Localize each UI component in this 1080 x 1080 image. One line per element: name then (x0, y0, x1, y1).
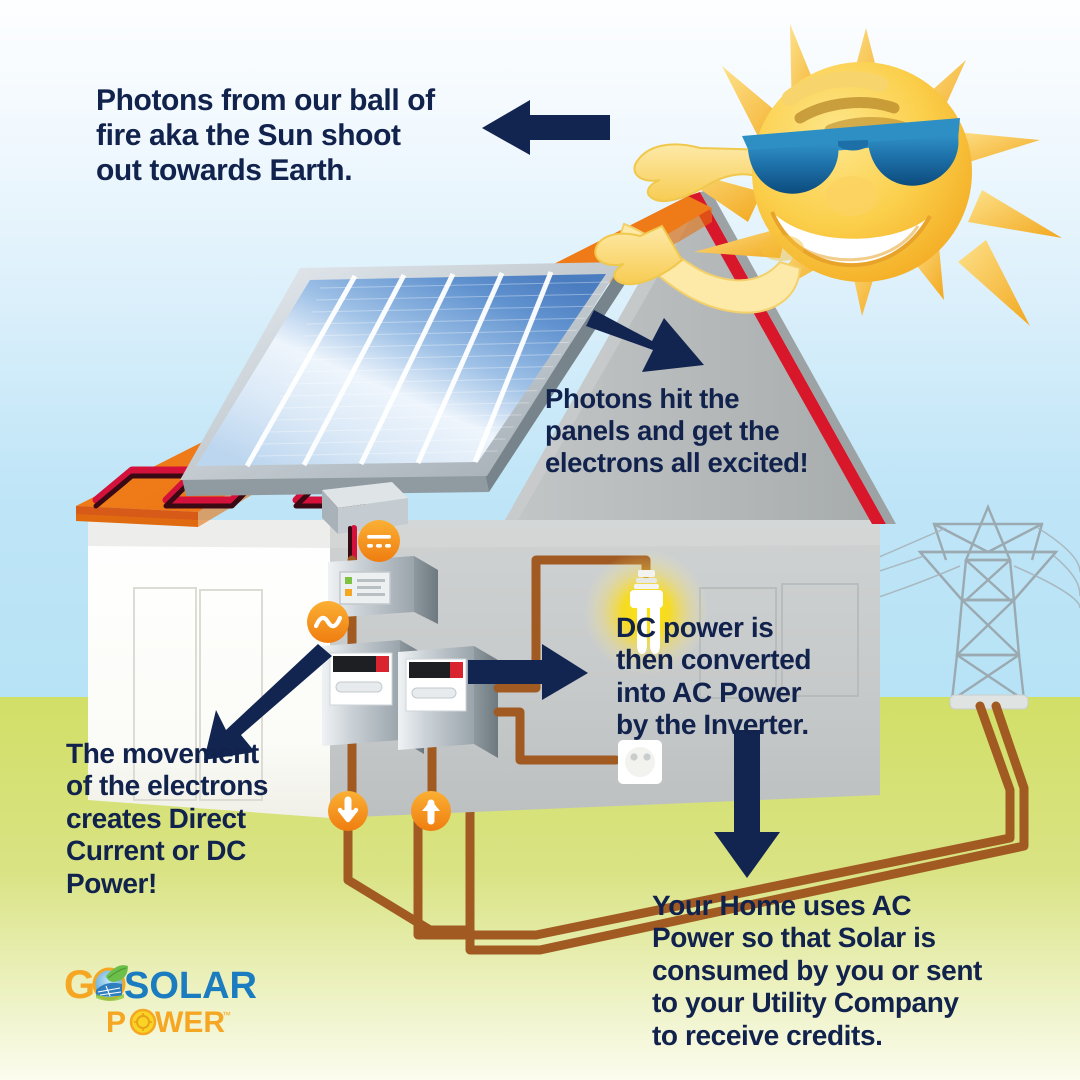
logo-sun-o (131, 1010, 155, 1034)
export-badge (411, 791, 451, 831)
logo-trademark: ™ (222, 1010, 231, 1020)
logo-o-badge (94, 965, 128, 1001)
house-front-shadow (330, 520, 880, 548)
logo-word-wer: WER (155, 1006, 225, 1038)
callout-electrons-make-dc: The movement of the electrons creates Di… (66, 738, 326, 900)
callout-home-uses-ac: Your Home uses AC Power so that Solar is… (652, 890, 1052, 1052)
logo-letter-p: P (106, 1006, 126, 1038)
house-left-wall-shadow (88, 520, 330, 548)
logo-letter-g: G (64, 963, 95, 1007)
callout-photons-hit-panels: Photons hit the panels and get the elect… (545, 383, 855, 479)
ac-badge (307, 601, 349, 643)
logo-word-solar: SOLAR (124, 965, 257, 1007)
tower-base (950, 695, 1028, 709)
go-solar-power-logo[interactable]: G SOLAR P WER ™ (62, 958, 262, 1038)
infographic-canvas: Photons from our ball of fire aka the Su… (0, 0, 1080, 1080)
callout-dc-to-ac-inverter: DC power is then converted into AC Power… (616, 612, 866, 742)
wall-outlet (618, 740, 662, 784)
dc-badge (358, 520, 400, 562)
import-badge (328, 791, 368, 831)
callout-photons-from-sun: Photons from our ball of fire aka the Su… (96, 84, 496, 188)
